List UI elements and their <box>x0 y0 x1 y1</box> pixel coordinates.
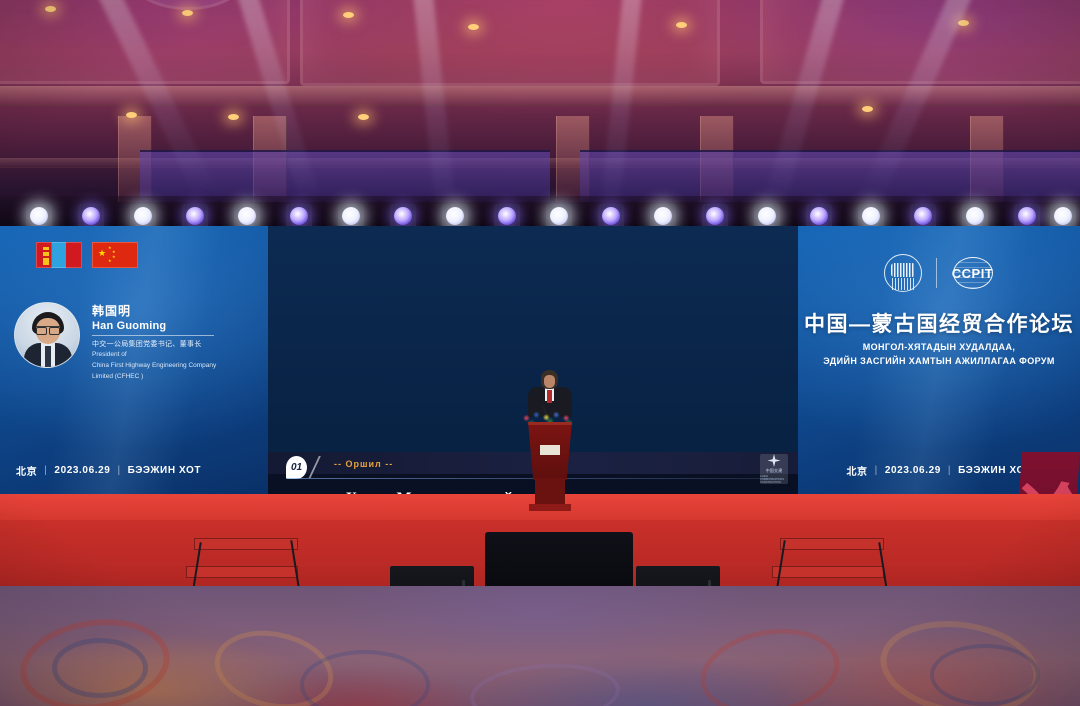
cccc-star-glyph <box>768 454 781 467</box>
carpet-motif <box>52 638 148 698</box>
carpet-motif <box>468 659 622 706</box>
footer-city-chinese: 北京 <box>846 463 867 478</box>
china-flag-icon: ★ ★ ★ ★ ★ <box>92 242 138 268</box>
speaker-name-english: Han Guoming <box>92 320 216 332</box>
cccc-logo-icon: 中国交建 CHINA COMMUNICATIONS CONSTRUCTION <box>760 454 788 484</box>
flags-group: ★ ★ ★ ★ ★ <box>36 242 138 268</box>
slide-section-badge: 01 <box>286 456 307 479</box>
ceiling-downlight <box>958 20 969 26</box>
footer-date: 2023.06.29 <box>885 465 941 476</box>
left-panel-footer: 北京 | 2023.06.29 | БЭЭЖИН ХОТ <box>16 463 201 478</box>
slide-section-label: -- Оршил -- <box>334 459 393 469</box>
speaker-title-chinese: 中交一公局集团党委书记、董事长 <box>92 339 216 349</box>
ccpit-logo-icon: CCPIT <box>951 254 995 292</box>
patterned-carpet <box>0 586 1080 706</box>
ceiling-beam <box>0 86 1080 106</box>
cccc-logo-sublabel: CHINA COMMUNICATIONS CONSTRUCTION <box>760 475 788 484</box>
ceiling-coffer <box>760 0 1080 84</box>
speaker-necktie <box>547 390 552 403</box>
ceiling-downlight <box>468 24 479 30</box>
speaker-title-english-2: China First Highway Engineering Company <box>92 361 216 371</box>
lectern-nameplate <box>540 445 560 455</box>
podium-and-speaker <box>515 370 585 515</box>
speaker-title-english-3: Limited (CFHEC ) <box>92 372 216 382</box>
speaker-name-chinese: 韩国明 <box>92 302 216 319</box>
conference-stage-scene: ★ ★ ★ ★ ★ 韩国明 Han Guoming 中交一公局集团党委书记、董事… <box>0 0 1080 706</box>
ceiling-coffer <box>300 0 720 86</box>
stage-steps-right <box>772 538 892 588</box>
mongolia-flag-icon <box>36 242 82 268</box>
footer-separator: | <box>117 465 120 476</box>
left-led-panel: ★ ★ ★ ★ ★ 韩国明 Han Guoming 中交一公局集团党委书记、董事… <box>0 226 268 494</box>
ceiling-downlight <box>182 10 193 16</box>
footer-separator: | <box>875 465 878 476</box>
speaker-info-card: 韩国明 Han Guoming 中交一公局集团党委书记、董事长 Presiden… <box>14 302 216 382</box>
speaker-avatar <box>14 302 80 368</box>
ceiling-downlight <box>343 12 354 18</box>
ceiling-downlight <box>228 114 239 120</box>
badge-slash-decoration <box>306 456 324 478</box>
ceiling-downlight <box>862 106 873 112</box>
carpet-motif <box>930 644 1040 706</box>
ceiling-coffer <box>0 0 290 84</box>
ccpit-logo-text: CCPIT <box>951 266 995 281</box>
slide-badge-number: 01 <box>291 462 302 473</box>
lectern-base <box>535 478 565 506</box>
speaker-text-block: 韩国明 Han Guoming 中交一公局集团党委书记、董事长 Presiden… <box>92 302 216 382</box>
footer-city-chinese: 北京 <box>16 463 37 478</box>
forum-title-chinese: 中国—蒙古国经贸合作论坛 <box>798 308 1080 338</box>
forum-title-mongolian: МОНГОЛ-ХЯТАДЫН ХУДАЛДАА, ЭДИЙН ЗАСГИЙН Х… <box>808 340 1070 369</box>
logo-divider <box>936 258 937 288</box>
ceiling-downlight <box>358 114 369 120</box>
forum-title-mongolian-line1: МОНГОЛ-ХЯТАДЫН ХУДАЛДАА, <box>808 340 1070 354</box>
back-window-band <box>140 150 550 202</box>
forum-title-mongolian-line2: ЭДИЙН ЗАСГИЙН ХАМТЫН АЖИЛЛАГАА ФОРУМ <box>808 354 1070 368</box>
lectern <box>528 422 572 480</box>
footer-date: 2023.06.29 <box>54 465 110 476</box>
ceiling-downlight <box>45 6 56 12</box>
ceiling-downlight <box>126 112 137 118</box>
speaker-face <box>544 375 555 388</box>
stage-steps-left <box>186 538 306 588</box>
speaker-title-english-1: President of <box>92 350 216 360</box>
mncci-logo-icon <box>884 254 922 292</box>
cccc-logo-label: 中国交建 <box>766 468 783 474</box>
carpet-motif <box>694 618 846 706</box>
organizer-logos-group: CCPIT <box>798 254 1080 292</box>
lectern-foot <box>529 504 571 511</box>
back-window-band <box>580 150 1080 202</box>
footer-separator: | <box>44 465 47 476</box>
divider-rule <box>92 335 214 336</box>
footer-separator: | <box>948 465 951 476</box>
ceiling-downlight <box>676 22 687 28</box>
footer-city-mongolian: БЭЭЖИН ХОТ <box>128 465 201 476</box>
